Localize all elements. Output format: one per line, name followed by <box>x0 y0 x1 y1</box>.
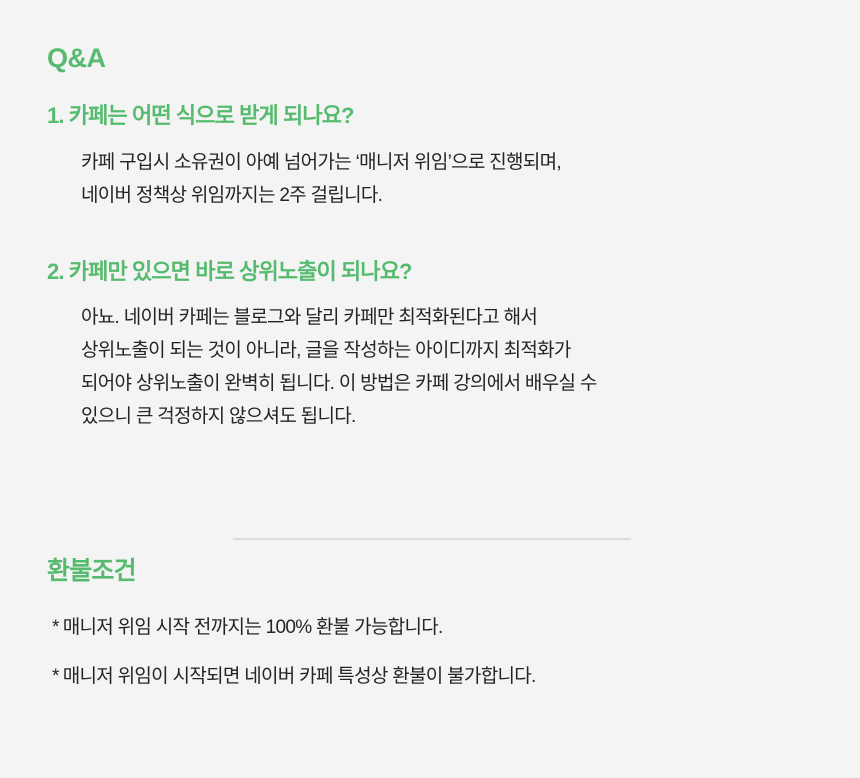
qa-answer-2-line-3: 되어야 상위노출이 완벽히 됩니다. 이 방법은 카페 강의에서 배우실 수 <box>81 367 840 400</box>
qa-item-1: 1. 카페는 어떤 식으로 받게 되나요? 카페 구입시 소유권이 아예 넘어가… <box>47 102 840 212</box>
refund-condition-list: *매니저 위임 시작 전까지는 100% 환불 가능합니다. *매니저 위임이 … <box>47 616 840 689</box>
refund-section-title: 환불조건 <box>47 556 840 586</box>
qa-answer-2-line-1: 아뇨. 네이버 카페는 블로그와 달리 카페만 최적화된다고 해서 <box>81 301 840 334</box>
qa-answer-2: 아뇨. 네이버 카페는 블로그와 달리 카페만 최적화된다고 해서 상위노출이 … <box>47 301 840 433</box>
qa-section: Q&A 1. 카페는 어떤 식으로 받게 되나요? 카페 구입시 소유권이 아예… <box>47 42 840 433</box>
asterisk-bullet-icon: * <box>52 616 59 641</box>
qa-answer-1: 카페 구입시 소유권이 아예 넘어가는 ‘매니저 위임’으로 진행되며, 네이버… <box>47 146 840 212</box>
qa-answer-2-line-2: 상위노출이 되는 것이 아니라, 글을 작성하는 아이디까지 최적화가 <box>81 334 840 367</box>
qa-items-spacer <box>47 242 840 258</box>
qa-answer-1-line-1: 카페 구입시 소유권이 아예 넘어가는 ‘매니저 위임’으로 진행되며, <box>81 146 840 179</box>
faq-page: Q&A 1. 카페는 어떤 식으로 받게 되나요? 카페 구입시 소유권이 아예… <box>0 0 860 778</box>
refund-condition-text: 매니저 위임 시작 전까지는 100% 환불 가능합니다. <box>63 617 443 638</box>
refund-policy-section: 환불조건 *매니저 위임 시작 전까지는 100% 환불 가능합니다. *매니저… <box>47 556 840 689</box>
qa-item-2: 2. 카페만 있으면 바로 상위노출이 되나요? 아뇨. 네이버 카페는 블로그… <box>47 258 840 434</box>
asterisk-bullet-icon: * <box>52 665 59 690</box>
qa-section-title: Q&A <box>47 42 840 74</box>
refund-condition-text: 매니저 위임이 시작되면 네이버 카페 특성상 환불이 불가합니다. <box>63 666 536 687</box>
refund-condition-item: *매니저 위임 시작 전까지는 100% 환불 가능합니다. <box>52 616 840 641</box>
qa-answer-2-line-4: 있으니 큰 걱정하지 않으셔도 됩니다. <box>81 400 840 433</box>
qa-question-2: 2. 카페만 있으면 바로 상위노출이 되나요? <box>47 258 840 286</box>
section-divider <box>233 538 631 540</box>
qa-question-1: 1. 카페는 어떤 식으로 받게 되나요? <box>47 102 840 130</box>
qa-answer-1-line-2: 네이버 정책상 위임까지는 2주 걸립니다. <box>81 179 840 212</box>
refund-condition-item: *매니저 위임이 시작되면 네이버 카페 특성상 환불이 불가합니다. <box>52 665 840 690</box>
